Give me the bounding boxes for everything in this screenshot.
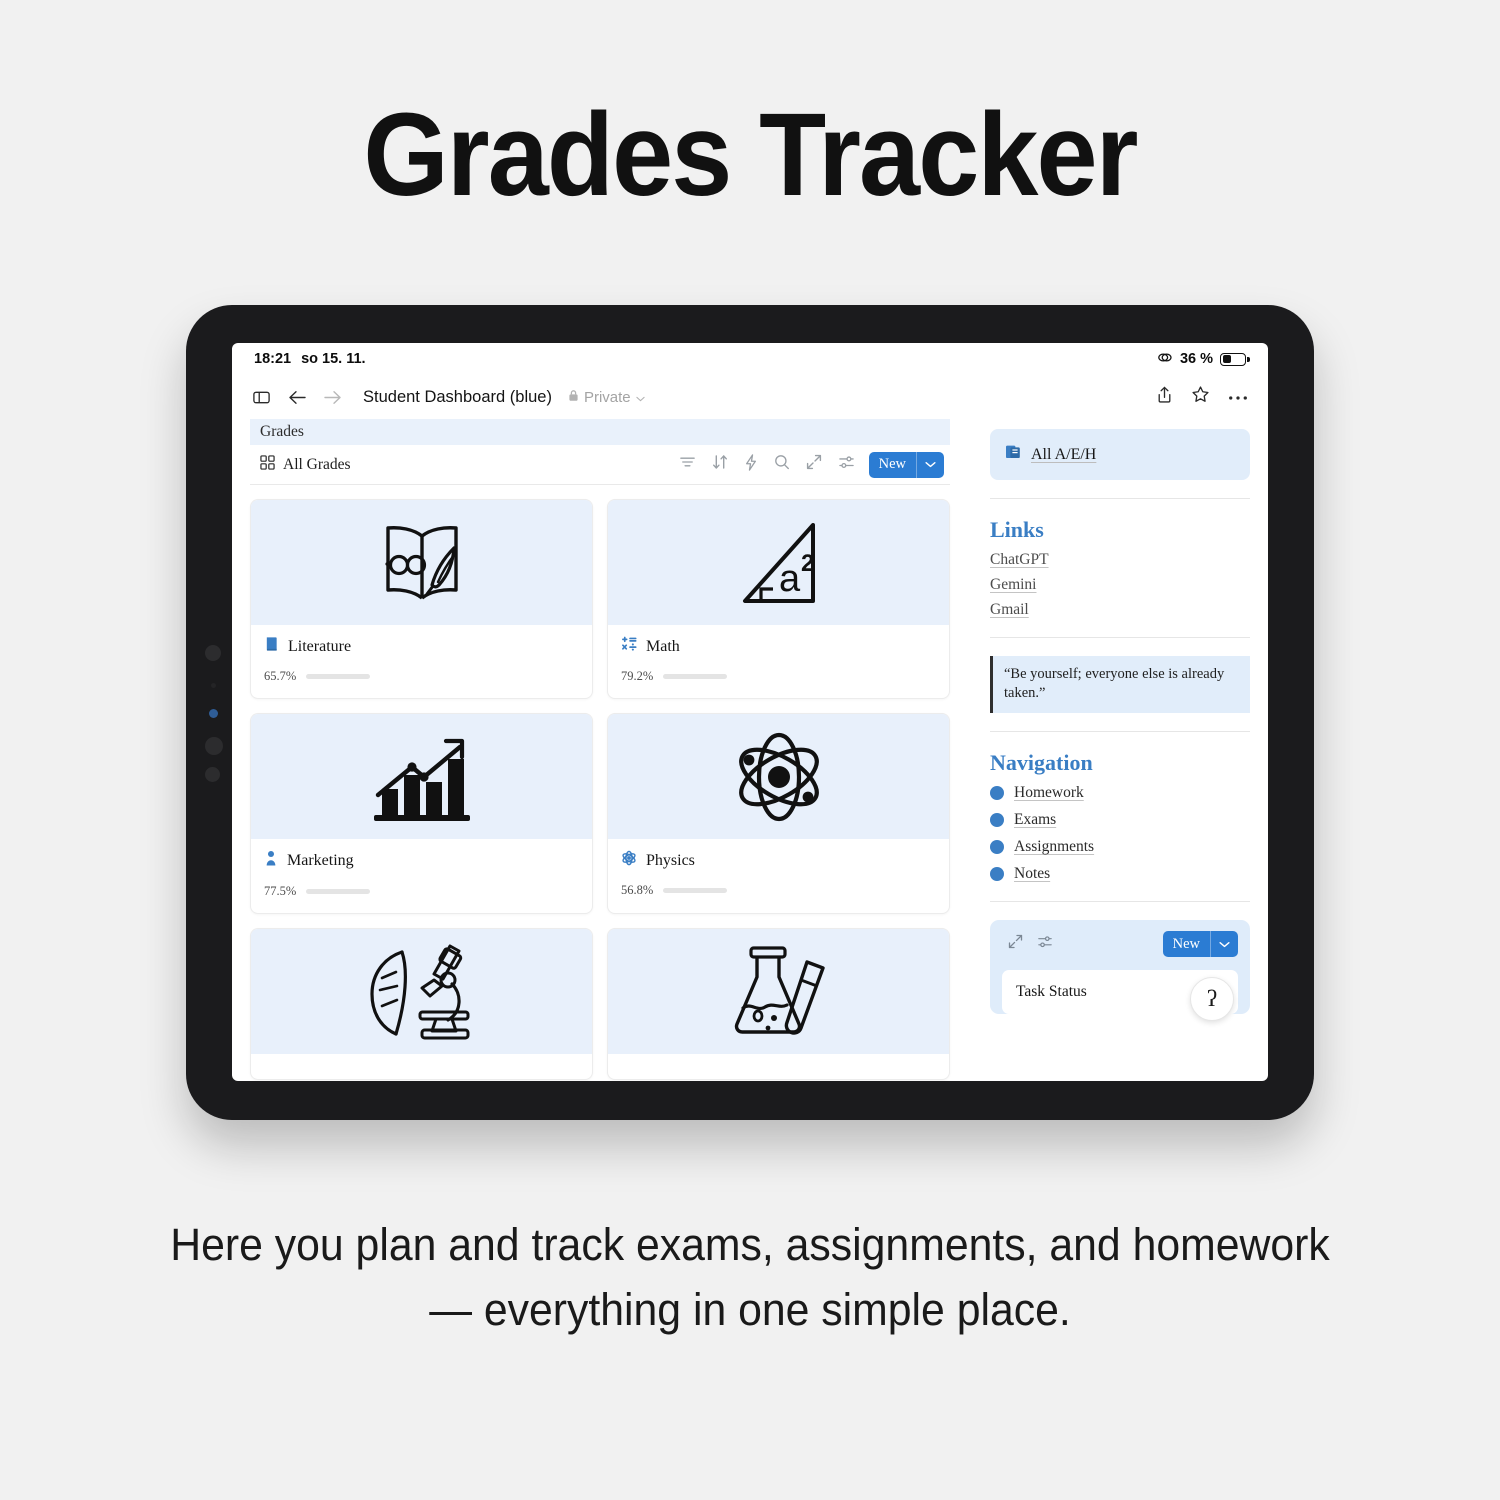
math-symbols-icon bbox=[621, 636, 637, 657]
share-icon[interactable] bbox=[1156, 385, 1173, 409]
page-body: Grades All bbox=[232, 419, 1268, 1081]
divider bbox=[990, 901, 1250, 902]
search-icon[interactable] bbox=[774, 454, 790, 475]
new-button[interactable]: New bbox=[869, 452, 944, 478]
bullet-icon bbox=[990, 813, 1004, 827]
sidebar-item-all-aeh[interactable]: All A/E/H bbox=[990, 429, 1250, 480]
expand-icon[interactable] bbox=[806, 454, 822, 475]
bezel-sensor-dot bbox=[211, 683, 216, 688]
progress-bar bbox=[306, 889, 370, 894]
task-new-button[interactable]: New bbox=[1163, 931, 1238, 957]
subject-percent: 79.2% bbox=[621, 669, 653, 684]
bezel-mic-dot bbox=[205, 767, 220, 782]
quote-callout: “Be yourself; everyone else is already t… bbox=[990, 656, 1250, 713]
nav-item-label: Exams bbox=[1014, 811, 1056, 829]
bezel-indicator-dot bbox=[209, 709, 218, 718]
leaf-microscope-illustration bbox=[251, 929, 592, 1054]
progress-bar bbox=[663, 674, 727, 679]
nav-item-label: Homework bbox=[1014, 784, 1084, 802]
nav-item-notes[interactable]: Notes bbox=[990, 865, 1250, 883]
expand-icon[interactable] bbox=[1008, 934, 1023, 954]
bullet-icon bbox=[990, 840, 1004, 854]
page-title: Grades Tracker bbox=[53, 96, 1448, 214]
grades-database: Grades All bbox=[250, 419, 950, 1081]
svg-text:a: a bbox=[779, 558, 801, 600]
right-triangle-a-squared-illustration: a 2 bbox=[608, 500, 949, 625]
sidebar-toggle-icon[interactable] bbox=[252, 388, 271, 407]
page-caption: Here you plan and track exams, assignmen… bbox=[161, 1212, 1339, 1343]
nav-item-label: Notes bbox=[1014, 865, 1050, 883]
chevron-down-icon[interactable] bbox=[917, 461, 944, 468]
atom-icon bbox=[621, 850, 637, 871]
sidebar-item-label: All A/E/H bbox=[1031, 446, 1096, 464]
more-horizontal-icon[interactable] bbox=[1228, 388, 1248, 406]
subject-name: Physics bbox=[646, 852, 695, 870]
blue-book-icon bbox=[264, 636, 279, 657]
subject-card-math[interactable]: a 2 bbox=[607, 499, 950, 699]
filter-icon[interactable] bbox=[679, 455, 696, 474]
chevron-down-icon[interactable] bbox=[1211, 941, 1238, 948]
app-header: Student Dashboard (blue) Private bbox=[232, 375, 1268, 419]
new-button-label: New bbox=[869, 456, 916, 473]
handwriting-glyph-icon[interactable]: ʔ bbox=[1190, 977, 1234, 1021]
subject-card-marketing[interactable]: Marketing 77.5% bbox=[250, 713, 593, 914]
books-icon bbox=[1004, 443, 1022, 466]
screen-record-icon bbox=[1157, 351, 1173, 368]
sort-icon[interactable] bbox=[712, 454, 728, 475]
arrow-left-icon[interactable] bbox=[287, 389, 307, 406]
status-bar: 18:21 so 15. 11. 36 % bbox=[232, 343, 1268, 375]
database-banner: Grades bbox=[250, 419, 950, 445]
subject-card-biology[interactable] bbox=[250, 928, 593, 1080]
nav-item-exams[interactable]: Exams bbox=[990, 811, 1250, 829]
flask-test-tube-illustration bbox=[608, 929, 949, 1054]
settings-sliders-icon[interactable] bbox=[1037, 935, 1053, 954]
subject-gallery: Literature 65.7% bbox=[250, 485, 950, 1080]
bezel-speaker-dot bbox=[205, 737, 223, 755]
privacy-label: Private bbox=[584, 389, 631, 406]
link-gemini[interactable]: Gemini bbox=[990, 576, 1250, 594]
view-tab-label: All Grades bbox=[283, 456, 351, 474]
view-tab-all-grades[interactable]: All Grades bbox=[260, 455, 351, 475]
nav-item-label: Assignments bbox=[1014, 838, 1094, 856]
star-icon[interactable] bbox=[1191, 385, 1210, 409]
link-gmail[interactable]: Gmail bbox=[990, 601, 1250, 619]
subject-card-literature[interactable]: Literature 65.7% bbox=[250, 499, 593, 699]
chevron-down-icon bbox=[636, 389, 645, 406]
links-heading: Links bbox=[990, 517, 1250, 543]
progress-bar bbox=[663, 888, 727, 893]
bullet-icon bbox=[990, 867, 1004, 881]
bullet-icon bbox=[990, 786, 1004, 800]
poster-page: Grades Tracker 18:21 so 15. 11. bbox=[0, 0, 1500, 1500]
subject-name: Marketing bbox=[287, 852, 354, 870]
bar-chart-growth-arrow-illustration bbox=[251, 714, 592, 839]
settings-sliders-icon[interactable] bbox=[838, 455, 855, 475]
privacy-selector[interactable]: Private bbox=[568, 389, 645, 406]
subject-name: Math bbox=[646, 638, 680, 656]
subject-card-physics[interactable]: Physics 56.8% bbox=[607, 713, 950, 914]
open-book-glasses-quill-illustration bbox=[251, 500, 592, 625]
automation-lightning-icon[interactable] bbox=[744, 454, 758, 476]
nav-item-homework[interactable]: Homework bbox=[990, 784, 1250, 802]
navigation-heading: Navigation bbox=[990, 750, 1250, 776]
document-title[interactable]: Student Dashboard (blue) bbox=[363, 388, 552, 407]
battery-icon bbox=[1220, 353, 1246, 366]
subject-percent: 56.8% bbox=[621, 883, 653, 898]
tablet-device: 18:21 so 15. 11. 36 % bbox=[186, 305, 1314, 1120]
lock-icon bbox=[568, 389, 579, 406]
divider bbox=[990, 498, 1250, 499]
gallery-grid-icon bbox=[260, 455, 275, 475]
subject-name: Literature bbox=[288, 638, 351, 656]
database-title: Grades bbox=[260, 423, 304, 441]
new-button-label: New bbox=[1163, 936, 1210, 953]
bezel-camera-dot bbox=[205, 645, 221, 661]
nav-item-assignments[interactable]: Assignments bbox=[990, 838, 1250, 856]
subject-percent: 77.5% bbox=[264, 884, 296, 899]
status-date: so 15. 11. bbox=[301, 351, 366, 367]
database-toolbar: All Grades bbox=[250, 445, 950, 485]
battery-percent: 36 % bbox=[1180, 351, 1213, 367]
task-database-toolbar: New bbox=[1002, 931, 1238, 957]
atom-illustration bbox=[608, 714, 949, 839]
divider bbox=[990, 637, 1250, 638]
status-time: 18:21 bbox=[254, 351, 291, 367]
svg-text:2: 2 bbox=[801, 550, 814, 577]
progress-bar bbox=[306, 674, 370, 679]
subject-card-chemistry[interactable] bbox=[607, 928, 950, 1080]
link-chatgpt[interactable]: ChatGPT bbox=[990, 551, 1250, 569]
divider bbox=[990, 731, 1250, 732]
tablet-screen: 18:21 so 15. 11. 36 % bbox=[232, 343, 1268, 1081]
arrow-right-icon[interactable] bbox=[323, 389, 343, 406]
subject-percent: 65.7% bbox=[264, 669, 296, 684]
megaphone-person-icon bbox=[264, 850, 278, 872]
